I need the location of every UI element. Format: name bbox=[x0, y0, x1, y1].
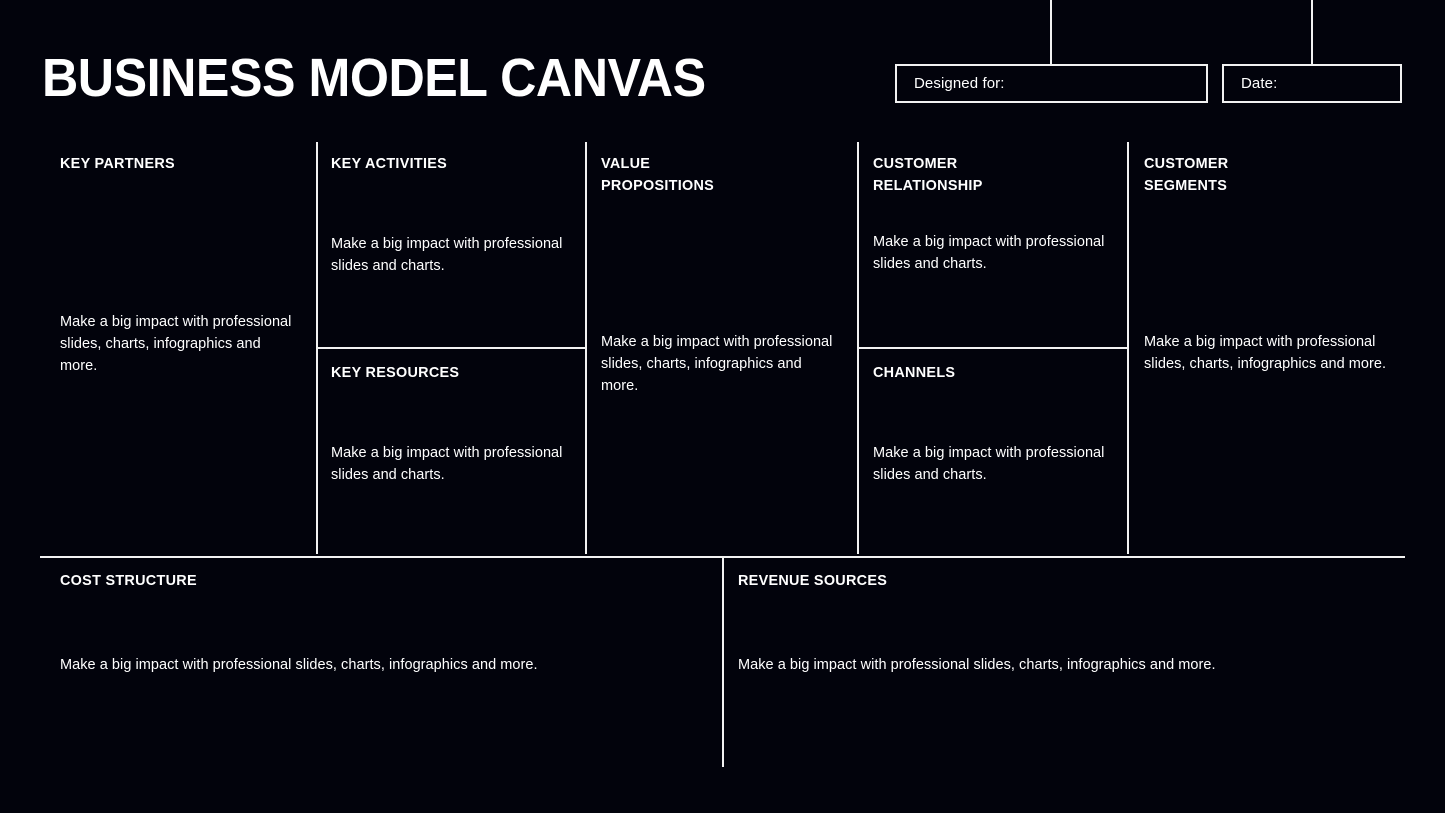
block-cost-structure-heading: COST STRUCTURE bbox=[60, 570, 679, 592]
block-customer-segments-body: Make a big impact with professional slid… bbox=[1144, 331, 1394, 375]
block-cost-structure-body: Make a big impact with professional slid… bbox=[60, 654, 705, 676]
block-revenue-sources-body: Make a big impact with professional slid… bbox=[738, 654, 1398, 676]
block-value-propositions[interactable]: VALUE PROPOSITIONS Make a big impact wit… bbox=[601, 153, 841, 548]
block-channels-heading: CHANNELS bbox=[873, 362, 1108, 384]
spacer bbox=[738, 592, 1398, 654]
date-field[interactable]: Date: bbox=[1222, 64, 1402, 103]
block-key-resources-body: Make a big impact with professional slid… bbox=[331, 442, 576, 486]
block-customer-relationship-body: Make a big impact with professional slid… bbox=[873, 231, 1118, 275]
designed-for-label: Designed for: bbox=[897, 76, 1005, 91]
block-cost-structure[interactable]: COST STRUCTURE Make a big impact with pr… bbox=[60, 570, 705, 760]
designed-for-connector-line bbox=[1050, 0, 1052, 65]
block-customer-relationship-heading: CUSTOMER RELATIONSHIP bbox=[873, 153, 1108, 197]
block-key-activities-heading: KEY ACTIVITIES bbox=[331, 153, 566, 175]
block-key-partners[interactable]: KEY PARTNERS Make a big impact with prof… bbox=[60, 153, 300, 548]
divider-horizontal-customer-relationship bbox=[857, 347, 1128, 349]
block-key-resources-heading: KEY RESOURCES bbox=[331, 362, 566, 384]
block-customer-relationship[interactable]: CUSTOMER RELATIONSHIP Make a big impact … bbox=[873, 153, 1118, 338]
block-revenue-sources-heading: REVENUE SOURCES bbox=[738, 570, 1372, 592]
spacer bbox=[873, 384, 1118, 442]
block-key-activities-body: Make a big impact with professional slid… bbox=[331, 233, 576, 277]
spacer bbox=[873, 197, 1118, 231]
block-channels-body: Make a big impact with professional slid… bbox=[873, 442, 1118, 486]
spacer bbox=[60, 592, 705, 654]
block-value-propositions-body: Make a big impact with professional slid… bbox=[601, 331, 841, 397]
spacer bbox=[1144, 197, 1394, 331]
spacer bbox=[601, 197, 841, 331]
block-value-propositions-heading: VALUE PROPOSITIONS bbox=[601, 153, 831, 197]
date-connector-line bbox=[1311, 0, 1313, 65]
block-key-resources[interactable]: KEY RESOURCES Make a big impact with pro… bbox=[331, 362, 576, 548]
spacer bbox=[60, 175, 300, 311]
spacer bbox=[331, 175, 576, 233]
block-key-partners-body: Make a big impact with professional slid… bbox=[60, 311, 300, 377]
designed-for-field[interactable]: Designed for: bbox=[895, 64, 1208, 103]
block-customer-segments-heading: CUSTOMER SEGMENTS bbox=[1144, 153, 1384, 197]
block-customer-segments[interactable]: CUSTOMER SEGMENTS Make a big impact with… bbox=[1144, 153, 1394, 548]
business-model-canvas: BUSINESS MODEL CANVAS Designed for: Date… bbox=[0, 0, 1445, 813]
block-channels[interactable]: CHANNELS Make a big impact with professi… bbox=[873, 362, 1118, 548]
block-key-partners-heading: KEY PARTNERS bbox=[60, 153, 290, 175]
divider-horizontal-key-activities bbox=[316, 347, 586, 349]
spacer bbox=[331, 384, 576, 442]
block-key-activities[interactable]: KEY ACTIVITIES Make a big impact with pr… bbox=[331, 153, 576, 338]
date-label: Date: bbox=[1224, 76, 1277, 91]
page-title: BUSINESS MODEL CANVAS bbox=[42, 48, 706, 108]
divider-vertical-bottom-row bbox=[722, 558, 724, 767]
block-revenue-sources[interactable]: REVENUE SOURCES Make a big impact with p… bbox=[738, 570, 1398, 760]
